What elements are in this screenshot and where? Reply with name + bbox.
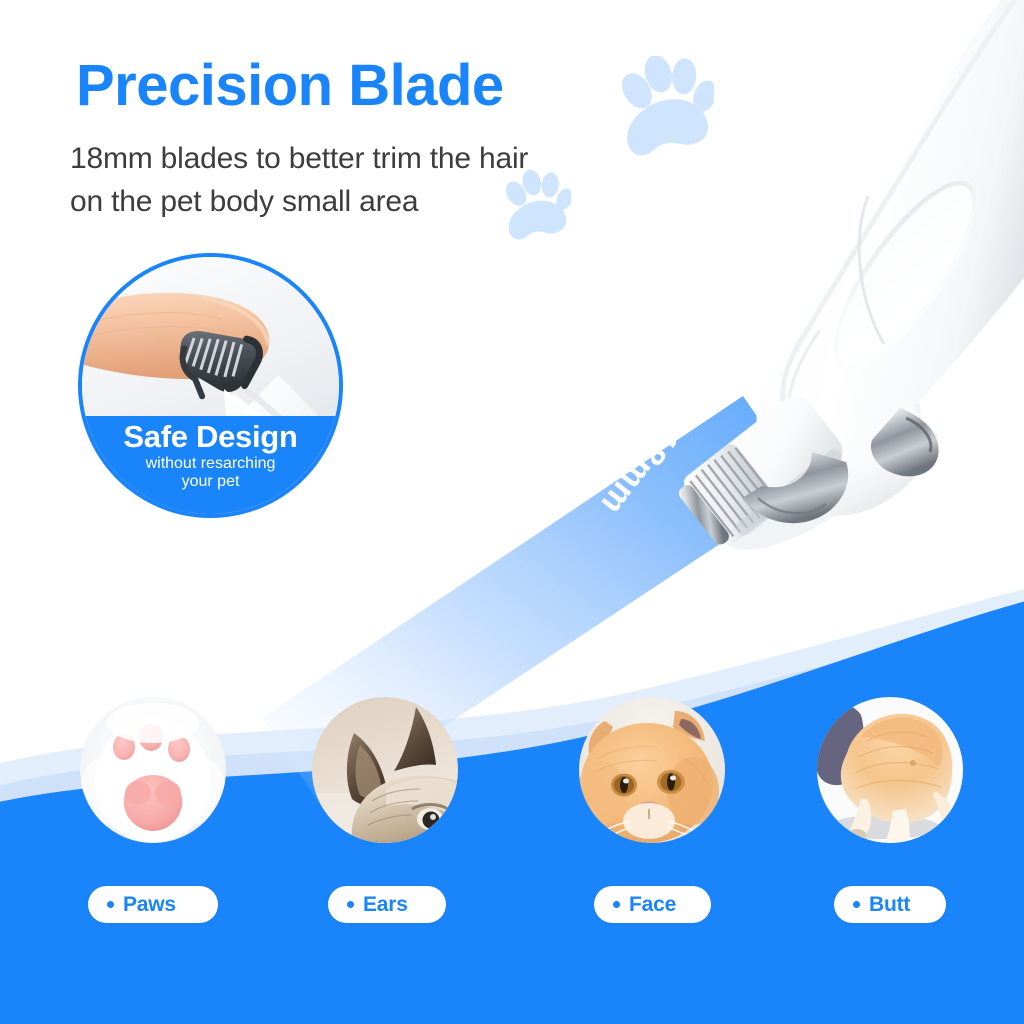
pet-target-label-face: Face bbox=[629, 893, 676, 917]
page-title: Precision Blade bbox=[76, 52, 504, 119]
pet-target-pill-butt[interactable]: Butt bbox=[834, 886, 946, 923]
pet-target-photo-ears bbox=[312, 697, 458, 843]
pet-target-pill-face[interactable]: Face bbox=[594, 886, 711, 923]
pet-target-photo-butt bbox=[817, 697, 963, 843]
bullet-dot-icon bbox=[107, 901, 114, 908]
pet-target-pill-paws[interactable]: Paws bbox=[88, 886, 218, 923]
safe-design-banner: Safe Design without resarching your pet bbox=[82, 416, 339, 514]
safe-design-subtitle: without resarching your pet bbox=[146, 455, 276, 491]
pet-target-photo-paws bbox=[80, 697, 226, 843]
safe-design-inset: Safe Design without resarching your pet bbox=[78, 253, 343, 518]
safe-design-title: Safe Design bbox=[123, 421, 297, 454]
pet-target-label-butt: Butt bbox=[869, 893, 910, 917]
pet-target-label-ears: Ears bbox=[363, 893, 408, 917]
pet-target-label-paws: Paws bbox=[123, 893, 176, 917]
bullet-dot-icon bbox=[347, 901, 354, 908]
page-subtitle: 18mm blades to better trim the hair on t… bbox=[70, 138, 528, 223]
paw-print-large-icon bbox=[618, 56, 714, 156]
bullet-dot-icon bbox=[613, 901, 620, 908]
bullet-dot-icon bbox=[853, 901, 860, 908]
pet-target-pill-ears[interactable]: Ears bbox=[328, 886, 446, 923]
pet-target-photo-face bbox=[579, 697, 725, 843]
product-feature-banner: 18mm bbox=[0, 0, 1024, 1024]
